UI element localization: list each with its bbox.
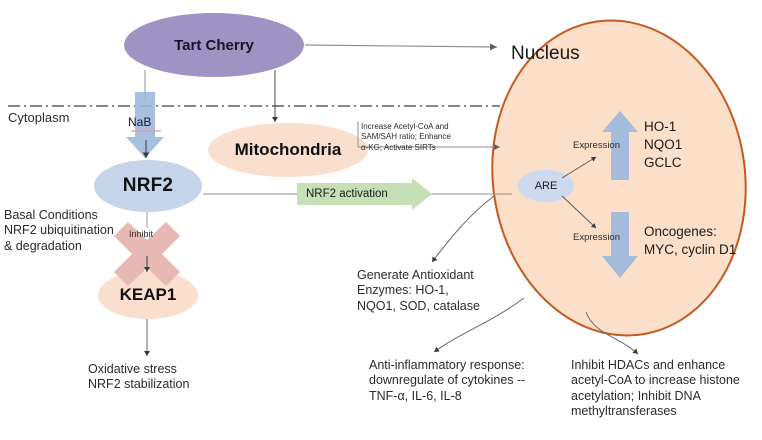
nab-label: NaB [128,115,151,130]
upregulated-genes-annotation: HO-1 NQO1 GCLC [644,118,734,173]
expression-up-label: Expression [573,140,620,152]
nrf2-activation-label: NRF2 activation [306,187,388,201]
mitochondria-effects-annotation: Increase Acetyl-CoA and SAM/SAH ratio; E… [361,122,477,153]
are-shape [518,170,574,202]
downregulated-genes-annotation: Oncogenes: MYC, cyclin D1 [644,223,754,259]
oxidative-stress-annotation: Oxidative stress NRF2 stabilization [88,362,238,393]
nucleus-label: Nucleus [511,42,580,65]
nucleus-to-antioxidant-arrow [432,196,494,262]
nrf2-shape [94,160,202,212]
anti-inflammatory-annotation: Anti-inflammatory response: downregulate… [369,358,569,404]
epigenetic-annotation: Inhibit HDACs and enhance acetyl-CoA to … [571,358,761,419]
basal-conditions-annotation: Basal Conditions NRF2 ubiquitination & d… [4,208,136,254]
cytoplasm-label: Cytoplasm [8,110,69,126]
mitochondria-shape [208,123,368,177]
keap1-shape [98,271,198,319]
tart-cherry-shape [124,13,304,77]
pathway-diagram: Tart Cherry NRF2 KEAP1 Mitochondria Nucl… [0,0,762,440]
tart-cherry-to-nucleus-arrow [305,45,497,47]
expression-down-label: Expression [573,232,620,244]
antioxidant-enzymes-annotation: Generate Antioxidant Enzymes: HO-1, NQO1… [357,268,537,314]
